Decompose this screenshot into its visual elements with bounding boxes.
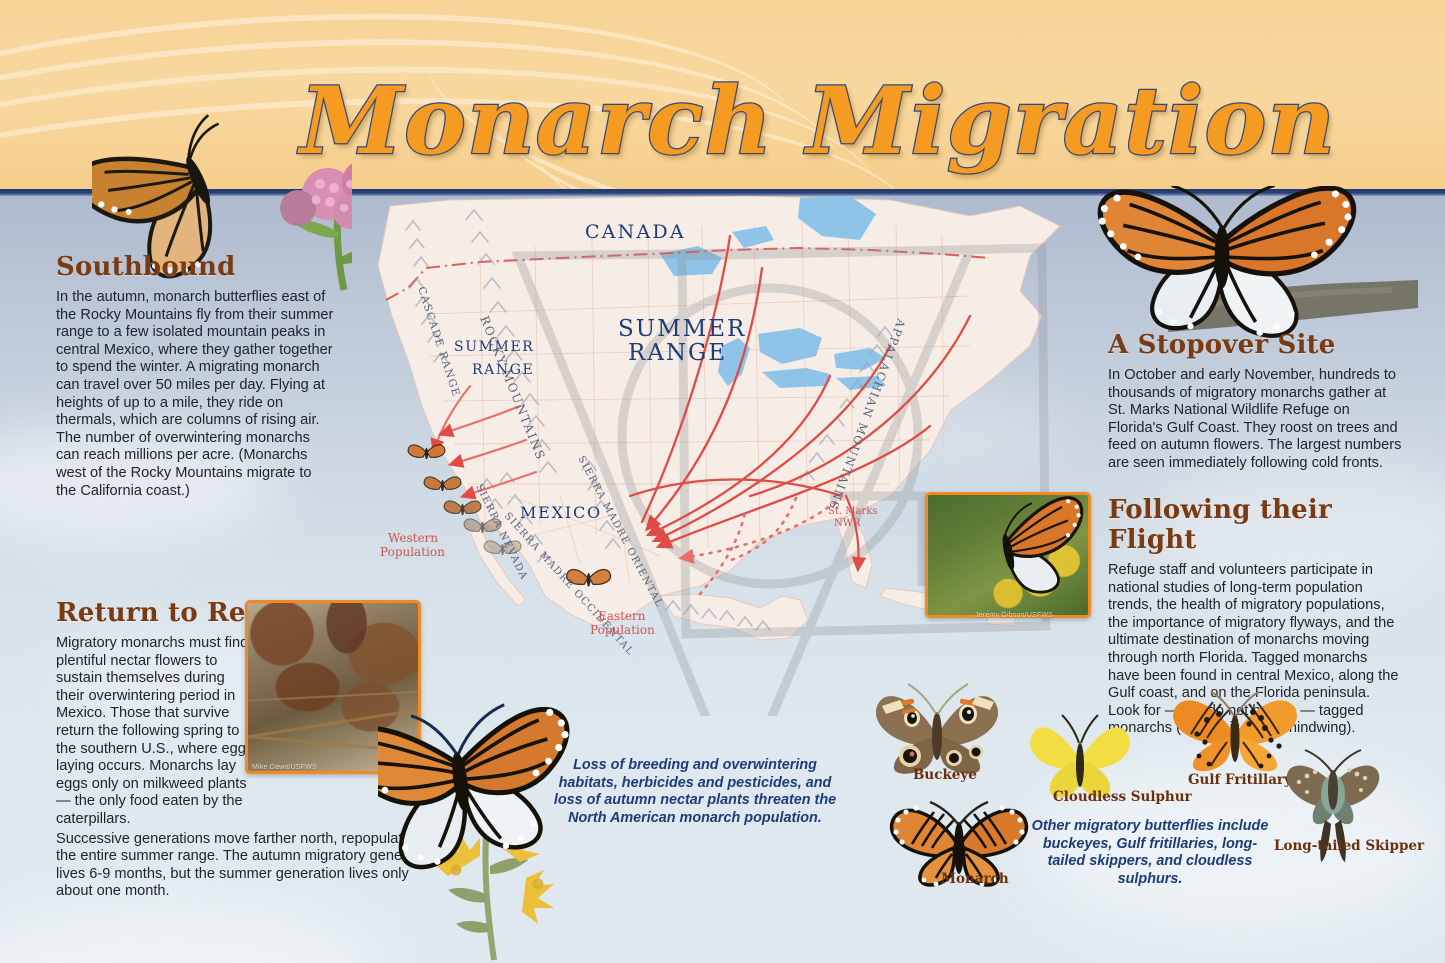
- map-label-western-population: Western: [388, 531, 438, 545]
- map-label-western-population2: Population: [380, 545, 445, 559]
- specimen-label-monarch: Monarch: [941, 871, 1009, 887]
- specimen-label-long-tailed-skipper: Long-tailed Skipper: [1274, 838, 1424, 854]
- specimen-label-buckeye: Buckeye: [913, 767, 977, 783]
- section-southbound: Southbound In the autumn, monarch butter…: [56, 252, 356, 500]
- map-label-mexico: MEXICO: [520, 503, 602, 522]
- map-label-eastern-population: Eastern: [598, 609, 646, 623]
- map-label-st-marks: St. Marks: [828, 506, 877, 517]
- southbound-heading: Southbound: [56, 252, 356, 282]
- repopulate-body-narrow: Migratory monarchs must find plentiful n…: [56, 635, 256, 829]
- cloud: [0, 895, 380, 963]
- specimen-label-cloudless-sulphur: Cloudless Sulphur: [1053, 789, 1192, 805]
- photo-credit-goldenrod: Jeremy Gibson/USFWS: [975, 612, 1053, 619]
- caption-other-butterflies: Other migratory butterflies include buck…: [1025, 818, 1275, 888]
- section-stopover: A Stopover Site In October and early Nov…: [1108, 330, 1408, 473]
- map-label-summer-range-big2: RANGE: [628, 340, 727, 366]
- map-label-st-marks2: NWR: [834, 518, 861, 529]
- monarch-on-branch-illustration: [1072, 186, 1422, 346]
- map-label-summer-range-big: SUMMER: [618, 316, 746, 342]
- poster: CANADA SUMMER RANGE SUMMER RANGE MEXICO …: [0, 0, 1445, 963]
- southbound-body: In the autumn, monarch butterflies east …: [56, 289, 334, 500]
- photo-credit-roost: Mike Dawn/USFWS: [252, 764, 317, 771]
- specimen-buckeye: [872, 678, 1002, 778]
- flight-heading: Following their Flight: [1108, 495, 1408, 555]
- stopover-heading: A Stopover Site: [1108, 330, 1408, 360]
- photo-monarch-on-goldenrod: [925, 492, 1091, 618]
- stopover-body: In October and early November, hundreds …: [1108, 367, 1402, 473]
- page-title: Monarch Migration: [300, 68, 1200, 178]
- map-label-eastern-population2: Population: [590, 623, 655, 637]
- map-label-canada: CANADA: [585, 221, 686, 243]
- caption-threats: Loss of breeding and overwintering habit…: [545, 757, 845, 827]
